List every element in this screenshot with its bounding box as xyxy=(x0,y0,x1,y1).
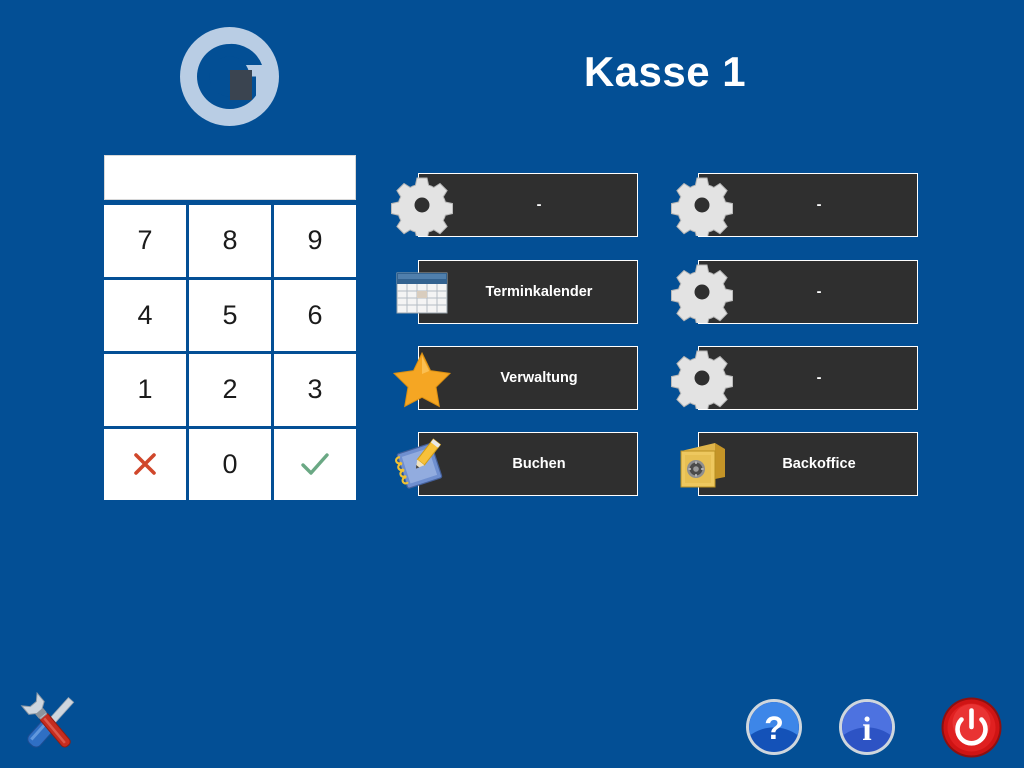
menu-button-backoffice[interactable]: Backoffice xyxy=(698,432,918,496)
help-button[interactable]: ? xyxy=(745,698,803,756)
info-button[interactable]: i xyxy=(838,698,896,756)
page-title: Kasse 1 xyxy=(430,48,900,96)
star-icon xyxy=(391,347,453,409)
key-9[interactable]: 9 xyxy=(274,205,356,277)
menu-button-label: - xyxy=(795,284,822,300)
key-7[interactable]: 7 xyxy=(104,205,186,277)
key-confirm[interactable] xyxy=(274,429,356,501)
key-label: 1 xyxy=(137,374,152,405)
gear-icon xyxy=(671,347,733,409)
key-label: 2 xyxy=(222,374,237,405)
menu-button-empty-1[interactable]: - xyxy=(418,173,638,237)
safe-icon xyxy=(671,433,733,495)
keypad-grid: 7 8 9 4 5 6 1 2 3 0 xyxy=(104,205,356,500)
key-label: 9 xyxy=(307,225,322,256)
gear-icon xyxy=(671,174,733,236)
menu-button-label: Verwaltung xyxy=(478,370,577,386)
menu-button-empty-3[interactable]: - xyxy=(698,260,918,324)
key-0[interactable]: 0 xyxy=(189,429,271,501)
key-6[interactable]: 6 xyxy=(274,280,356,352)
key-label: 4 xyxy=(137,300,152,331)
menu-button-label: - xyxy=(515,197,542,213)
key-label: 0 xyxy=(222,449,237,480)
menu-button-label: Buchen xyxy=(490,456,565,472)
numeric-keypad: 7 8 9 4 5 6 1 2 3 0 xyxy=(104,155,356,500)
key-label: 8 xyxy=(222,225,237,256)
gear-icon xyxy=(391,174,453,236)
key-label: 6 xyxy=(307,300,322,331)
cancel-icon xyxy=(130,449,160,479)
question-mark-glyph: ? xyxy=(764,710,784,746)
menu-button-empty-4[interactable]: - xyxy=(698,346,918,410)
menu-button-label: - xyxy=(795,370,822,386)
key-1[interactable]: 1 xyxy=(104,354,186,426)
menu-button-label: Backoffice xyxy=(760,456,855,472)
key-8[interactable]: 8 xyxy=(189,205,271,277)
key-2[interactable]: 2 xyxy=(189,354,271,426)
menu-button-empty-2[interactable]: - xyxy=(698,173,918,237)
menu-button-label: Terminkalender xyxy=(464,284,593,300)
key-3[interactable]: 3 xyxy=(274,354,356,426)
menu-button-buchen[interactable]: Buchen xyxy=(418,432,638,496)
menu-button-verwaltung[interactable]: Verwaltung xyxy=(418,346,638,410)
calendar-icon xyxy=(391,261,453,323)
key-cancel[interactable] xyxy=(104,429,186,501)
tools-button[interactable] xyxy=(12,686,88,762)
key-label: 5 xyxy=(222,300,237,331)
notepad-pencil-icon xyxy=(391,433,453,495)
info-glyph: i xyxy=(862,711,871,748)
power-button[interactable] xyxy=(941,697,1002,758)
key-label: 7 xyxy=(137,225,152,256)
keypad-display[interactable] xyxy=(104,155,356,200)
key-5[interactable]: 5 xyxy=(189,280,271,352)
company-logo xyxy=(180,27,279,126)
key-4[interactable]: 4 xyxy=(104,280,186,352)
menu-button-label: - xyxy=(795,197,822,213)
key-label: 3 xyxy=(307,374,322,405)
check-icon xyxy=(298,449,332,479)
menu-button-terminkalender[interactable]: Terminkalender xyxy=(418,260,638,324)
gear-icon xyxy=(671,261,733,323)
